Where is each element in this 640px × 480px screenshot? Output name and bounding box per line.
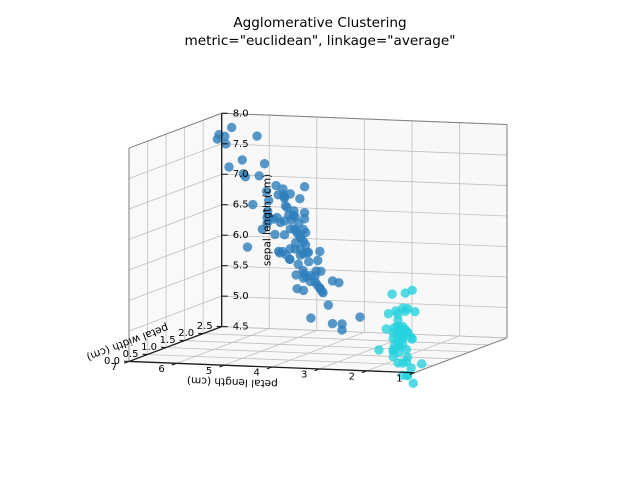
scatter-point-cluster-1 <box>280 216 289 225</box>
scatter-point-cluster-1 <box>227 123 236 132</box>
y-tick-label: 2.0 <box>178 328 194 339</box>
scatter-point-cluster-1 <box>313 256 322 265</box>
scatter-point-cluster-0 <box>401 307 410 316</box>
scatter-point-cluster-1 <box>304 257 313 266</box>
x-tick-label: 1 <box>396 373 402 384</box>
scatter-point-cluster-1 <box>291 238 300 247</box>
scatter-point-cluster-1 <box>295 194 304 203</box>
z-tick-label: 6.0 <box>233 230 249 241</box>
x-tick-label: 2 <box>349 371 355 382</box>
x-tick-label: 3 <box>301 370 307 381</box>
z-tick-label: 4.5 <box>233 322 249 333</box>
scatter-point-cluster-1 <box>252 131 261 140</box>
scatter-point-cluster-0 <box>402 345 411 354</box>
scatter-point-cluster-1 <box>279 190 288 199</box>
scatter-point-cluster-0 <box>409 379 418 388</box>
z-tick-label: 8.0 <box>233 108 249 119</box>
scatter-point-cluster-0 <box>388 346 397 355</box>
scatter-point-cluster-1 <box>299 286 308 295</box>
scatter-point-cluster-0 <box>410 307 419 316</box>
scatter3d-axes: 12345670.00.51.01.52.02.54.55.05.56.06.5… <box>0 0 640 480</box>
scatter-point-cluster-1 <box>243 242 252 251</box>
z-tick-label: 5.0 <box>233 291 249 302</box>
scatter-point-cluster-0 <box>391 306 400 315</box>
scatter-point-cluster-1 <box>294 260 303 269</box>
y-tick-label: 2.5 <box>197 321 213 332</box>
scatter-point-cluster-0 <box>387 289 396 298</box>
scatter-point-cluster-0 <box>403 328 412 337</box>
scatter-point-cluster-0 <box>401 288 410 297</box>
scatter-point-cluster-1 <box>238 155 247 164</box>
scatter-point-cluster-0 <box>417 359 426 368</box>
z-axis-label: sepal length (cm) <box>262 174 274 266</box>
figure-canvas: Agglomerative Clustering metric="euclide… <box>0 0 640 480</box>
z-tick-label: 7.5 <box>233 139 249 150</box>
scatter-point-cluster-1 <box>290 212 299 221</box>
scatter-point-cluster-0 <box>374 345 383 354</box>
scatter-point-cluster-1 <box>304 248 313 257</box>
scatter-point-cluster-0 <box>382 324 391 333</box>
scatter-point-cluster-1 <box>306 313 315 322</box>
scatter-point-cluster-1 <box>355 312 364 321</box>
x-axis-label: petal length (cm) <box>187 374 278 390</box>
scatter-point-cluster-1 <box>324 300 333 309</box>
scatter-point-cluster-1 <box>286 224 295 233</box>
x-tick-label: 6 <box>158 364 164 375</box>
scatter-point-cluster-1 <box>285 255 294 264</box>
scatter-point-cluster-1 <box>337 319 346 328</box>
scatter-point-cluster-0 <box>402 357 411 366</box>
scatter-point-cluster-1 <box>315 247 324 256</box>
z-tick-label: 6.5 <box>233 200 249 211</box>
z-tick-label: 7.0 <box>233 169 249 180</box>
scatter-point-cluster-1 <box>334 278 343 287</box>
scatter-point-cluster-1 <box>300 182 309 191</box>
scatter-point-cluster-1 <box>248 200 257 209</box>
scatter-point-cluster-1 <box>328 319 337 328</box>
scatter-point-cluster-1 <box>260 159 269 168</box>
scatter-point-cluster-0 <box>395 323 404 332</box>
z-tick-label: 5.5 <box>233 261 249 272</box>
